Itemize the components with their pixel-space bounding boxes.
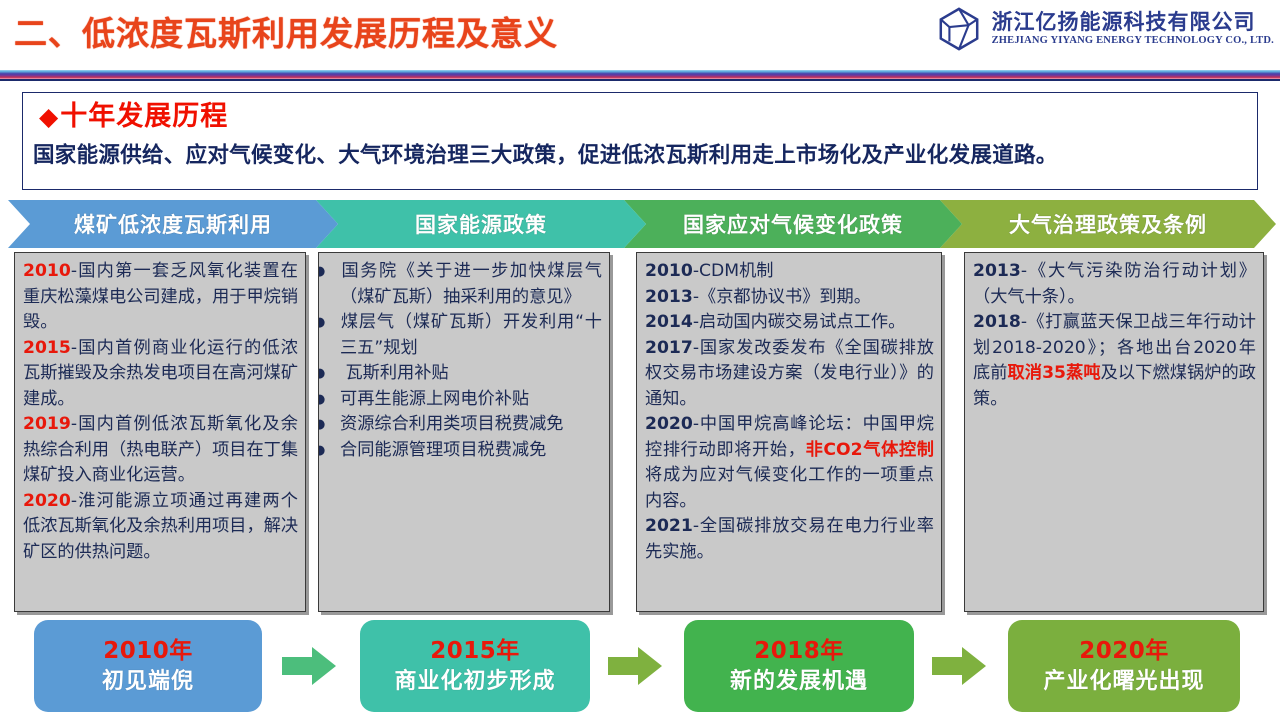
milestone-year: 2018年: [754, 636, 844, 666]
policy-card-coal-mine-gas-utilization: 2010-国内第一套乏风氧化装置在重庆松藻煤电公司建成，用于甲烷销毁。2015-…: [14, 252, 306, 612]
logo-company-cn: 浙江亿扬能源科技有限公司: [992, 10, 1274, 34]
timeline-entry-text: -CDM机制: [693, 261, 774, 281]
policy-card-climate-change-policy: 2010-CDM机制2013-《京都协议书》到期。2014-启动国内碳交易试点工…: [636, 252, 942, 612]
arrow-right-icon-2: [608, 646, 662, 686]
list-item-text: 可再生能源上网电价补贴: [340, 389, 529, 409]
list-item: ●煤层气（煤矿瓦斯）开发利用“十三五”规划: [327, 310, 602, 361]
timeline-entry: 2020-中国甲烷高峰论坛：中国甲烷控排行动即将开始，非CO2气体控制将成为应对…: [645, 412, 934, 514]
timeline-entry: 2010-CDM机制: [645, 259, 934, 285]
category-banner-3[interactable]: 国家应对气候变化政策: [624, 200, 962, 248]
arrow-right-icon-1: [282, 646, 336, 686]
list-item-text: 合同能源管理项目税费减免: [340, 440, 546, 460]
milestone-year: 2010年: [103, 636, 193, 666]
list-item: ●合同能源管理项目税费减免: [327, 438, 602, 464]
timeline-entry: 2010-国内第一套乏风氧化装置在重庆松藻煤电公司建成，用于甲烷销毁。: [23, 259, 298, 336]
timeline-entry: 2013-《京都协议书》到期。: [645, 285, 934, 311]
milestone-label: 产业化曙光出现: [1043, 666, 1204, 697]
timeline-entry-highlight: 非CO2气体控制: [806, 440, 934, 460]
milestone-label: 新的发展机遇: [730, 666, 868, 697]
timeline-entry: 2021-全国碳排放交易在电力行业率先实施。: [645, 514, 934, 565]
bullet-dot-icon: ●: [327, 361, 340, 387]
timeline-entry-year: 2010: [23, 261, 71, 281]
category-banner-4[interactable]: 大气治理政策及条例: [940, 200, 1276, 248]
category-banner-2[interactable]: 国家能源政策: [316, 200, 646, 248]
timeline-entry-text: -启动国内碳交易试点工作。: [693, 312, 905, 332]
list-item: ● 瓦斯利用补贴: [327, 361, 602, 387]
intro-panel: ◆ 十年发展历程 国家能源供给、应对气候变化、大气环境治理三大政策，促进低浓瓦斯…: [22, 92, 1258, 190]
bullet-dot-icon: ●: [327, 259, 340, 285]
timeline-entry-text: -《京都协议书》到期。: [693, 287, 871, 307]
milestone-card-3[interactable]: 2018年新的发展机遇: [684, 620, 914, 712]
timeline-entry-year: 2021: [645, 516, 693, 536]
header-divider-line: [0, 79, 1280, 81]
arrow-right-icon-3: [932, 646, 986, 686]
timeline-entry-year: 2013: [973, 261, 1021, 281]
timeline-entry-year: 2020: [23, 491, 71, 511]
timeline-entry-year: 2013: [645, 287, 693, 307]
intro-heading: ◆ 十年发展历程: [39, 99, 228, 135]
diamond-bullet-icon: ◆: [39, 100, 58, 134]
company-logo: 浙江亿扬能源科技有限公司 ZHEJIANG YIYANG ENERGY TECH…: [936, 6, 1274, 52]
category-banner-label: 煤矿低浓度瓦斯利用: [74, 209, 272, 239]
timeline-entry: 2020-淮河能源立项通过再建两个低浓瓦斯氧化及余热利用项目，解决矿区的供热问题…: [23, 489, 298, 566]
hexagon-logo-icon: [936, 6, 982, 52]
header-divider-gradient: [0, 70, 1280, 79]
timeline-entry: 2017-国家发改委发布《全国碳排放权交易市场建设方案（发电行业）》的通知。: [645, 336, 934, 413]
policy-card-row: 2010-国内第一套乏风氧化装置在重庆松藻煤电公司建成，用于甲烷销毁。2015-…: [0, 252, 1280, 618]
timeline-entry-year: 2014: [645, 312, 693, 332]
milestone-card-2[interactable]: 2015年商业化初步形成: [360, 620, 590, 712]
policy-card-national-energy-policy: ●国务院《关于进一步加快煤层气（煤矿瓦斯）抽采利用的意见》●煤层气（煤矿瓦斯）开…: [318, 252, 610, 612]
timeline-entry-year: 2015: [23, 338, 71, 358]
timeline-entry-year: 2020: [645, 414, 693, 434]
milestone-card-1[interactable]: 2010年初见端倪: [34, 620, 262, 712]
list-item-text: 资源综合利用类项目税费减免: [340, 414, 563, 434]
milestone-year: 2015年: [430, 636, 520, 666]
category-banner-row: 煤矿低浓度瓦斯利用国家能源政策国家应对气候变化政策大气治理政策及条例: [8, 200, 1276, 248]
timeline-entry-year: 2018: [973, 312, 1021, 332]
timeline-entry: 2014-启动国内碳交易试点工作。: [645, 310, 934, 336]
timeline-entry: 2013-《大气污染防治行动计划》（大气十条）。: [973, 259, 1256, 310]
list-item-text: 瓦斯利用补贴: [340, 363, 449, 383]
intro-subtitle: 国家能源供给、应对气候变化、大气环境治理三大政策，促进低浓瓦斯利用走上市场化及产…: [33, 141, 1243, 171]
page-title: 二、低浓度瓦斯利用发展历程及意义: [14, 8, 558, 60]
list-item-text: 煤层气（煤矿瓦斯）开发利用“十三五”规划: [340, 312, 602, 358]
milestone-label: 商业化初步形成: [394, 666, 555, 697]
bullet-dot-icon: ●: [327, 387, 340, 413]
category-banner-1[interactable]: 煤矿低浓度瓦斯利用: [8, 200, 338, 248]
category-banner-label: 国家应对气候变化政策: [683, 209, 903, 239]
timeline-entry-year: 2010: [645, 261, 693, 281]
bullet-dot-icon: ●: [327, 412, 340, 438]
intro-heading-label: 十年发展历程: [60, 99, 228, 135]
timeline-entry: 2018-《打赢蓝天保卫战三年行动计划2018-2020》；各地出台2020年底…: [973, 310, 1256, 412]
category-banner-label: 国家能源政策: [415, 209, 547, 239]
timeline-entry-highlight: 取消35蒸吨: [1008, 363, 1101, 383]
milestone-label: 初见端倪: [102, 666, 194, 697]
list-item: ●资源综合利用类项目税费减免: [327, 412, 602, 438]
slide-header: 二、低浓度瓦斯利用发展历程及意义 浙江亿扬能源科技有限公司 ZHEJIANG Y…: [0, 0, 1280, 72]
slide-root: 二、低浓度瓦斯利用发展历程及意义 浙江亿扬能源科技有限公司 ZHEJIANG Y…: [0, 0, 1280, 720]
policy-card-air-treatment-policy: 2013-《大气污染防治行动计划》（大气十条）。2018-《打赢蓝天保卫战三年行…: [964, 252, 1264, 612]
list-item: ●国务院《关于进一步加快煤层气（煤矿瓦斯）抽采利用的意见》: [327, 259, 602, 310]
milestone-year: 2020年: [1079, 636, 1169, 666]
category-banner-label: 大气治理政策及条例: [1009, 209, 1207, 239]
timeline-entry-text-after: 将成为应对气候变化工作的一项重点内容。: [645, 465, 934, 511]
logo-company-en: ZHEJIANG YIYANG ENERGY TECHNOLOGY CO., L…: [992, 34, 1274, 48]
milestone-card-4[interactable]: 2020年产业化曙光出现: [1008, 620, 1240, 712]
timeline-entry-year: 2017: [645, 338, 693, 358]
timeline-entry: 2015-国内首例商业化运行的低浓瓦斯摧毁及余热发电项目在高河煤矿建成。: [23, 336, 298, 413]
timeline-entry: 2019-国内首例低浓瓦斯氧化及余热综合利用（热电联产）项目在丁集煤矿投入商业化…: [23, 412, 298, 489]
timeline-entry-year: 2019: [23, 414, 71, 434]
list-item: ●可再生能源上网电价补贴: [327, 387, 602, 413]
list-item-text: 国务院《关于进一步加快煤层气（煤矿瓦斯）抽采利用的意见》: [340, 261, 602, 307]
bullet-dot-icon: ●: [327, 438, 340, 464]
milestone-row: 2010年初见端倪2015年商业化初步形成2018年新的发展机遇2020年产业化…: [0, 620, 1280, 720]
bullet-dot-icon: ●: [327, 310, 340, 336]
